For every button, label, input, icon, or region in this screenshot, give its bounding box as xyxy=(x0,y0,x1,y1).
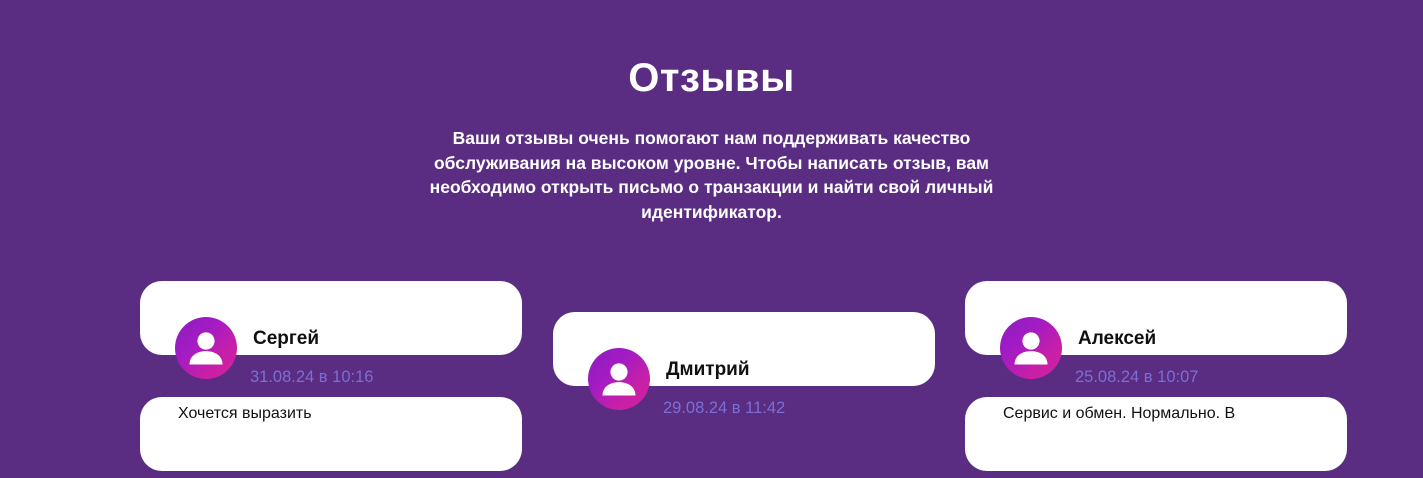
review-item[interactable]: 25.08.24 в 10:07 Алексей Сервис и обмен.… xyxy=(965,281,1347,355)
section-description: Ваши отзывы очень помогают нам поддержив… xyxy=(392,126,1032,224)
review-card-next[interactable]: Хочется выразить xyxy=(140,397,522,471)
review-author-name: Сергей xyxy=(253,328,319,350)
review-card-next[interactable]: Сервис и обмен. Нормально. В xyxy=(965,397,1347,471)
person-icon xyxy=(588,348,650,410)
page-title: Отзывы xyxy=(0,0,1423,100)
person-icon xyxy=(1000,317,1062,379)
review-body-preview: Хочется выразить xyxy=(178,405,312,423)
review-date: 29.08.24 в 11:42 xyxy=(663,399,785,418)
person-icon xyxy=(175,317,237,379)
review-date: 31.08.24 в 10:16 xyxy=(250,368,373,387)
review-date: 25.08.24 в 10:07 xyxy=(1075,368,1198,387)
reviews-carousel: 31.08.24 в 10:16 Сергей Хочется выразить… xyxy=(0,268,1423,478)
review-item[interactable]: 31.08.24 в 10:16 Сергей Хочется выразить xyxy=(140,281,522,355)
review-item[interactable]: 29.08.24 в 11:42 Дмитрий xyxy=(553,312,935,386)
review-body-preview: Сервис и обмен. Нормально. В xyxy=(1003,405,1235,423)
review-author-name: Дмитрий xyxy=(666,359,750,381)
review-author-name: Алексей xyxy=(1078,328,1156,350)
